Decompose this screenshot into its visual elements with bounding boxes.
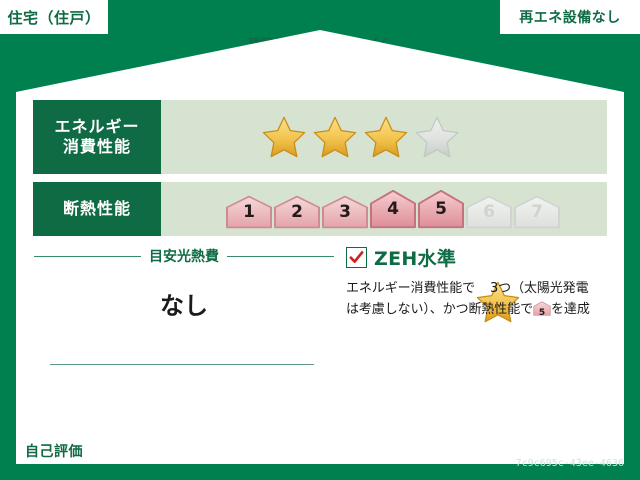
insulation-performance-body: 1234567 [161,182,607,236]
energy-performance-row: エネルギー 消費性能 [33,100,607,174]
label-footer: 自己評価 掛川市柳町第1(3棟)3号棟25004600300 評価日 2025年… [0,434,640,480]
property-address: 掛川市柳町第1(3棟)3号棟25004600300 [99,442,339,461]
insulation-grade-value: 6 [483,202,495,222]
zeh-desc-part-3: を達成 [551,302,590,317]
zeh-block: ZEH水準 エネルギー消費性能で3つ（太陽光発電 は考慮しない）、かつ断熱性能で… [346,244,614,320]
heading-rule-right [227,256,334,257]
renewable-energy-badge: 再エネ設備なし [500,0,640,34]
utility-cost-value: なし [34,286,334,321]
energy-label-line-2: 消費性能 [63,137,131,157]
inline-house-grade-icon: 5 [533,301,551,316]
star-filled-icon [261,114,307,160]
insulation-grade-4: 4 [369,189,417,229]
insulation-grade-6: 6 [465,195,513,229]
renewable-energy-badge-text: 再エネ設備なし [519,7,621,27]
lower-section: 目安光熱費 なし ZEH水準 エネルギー消費性 [16,244,624,464]
insulation-grade-value: 4 [387,199,399,219]
inline-star-icon [475,279,490,294]
insulation-performance-label-box: 断熱性能 [33,182,161,236]
insulation-grade-5: 5 [417,189,465,229]
utility-cost-heading-text: 目安光熱費 [149,246,219,266]
zeh-desc-part-1: エネルギー消費性能で [346,281,475,296]
zeh-desc-part-2: は考慮しない）、かつ断熱性能で [346,302,533,317]
energy-label-line-1: エネルギー [54,117,139,137]
energy-performance-label: 住宅（住戸） 再エネ設備なし 建築物省エネ法に基づく 省エネ性能ラベル エネルギ… [0,0,640,480]
zeh-desc-part-stars: 3つ（太陽光発電 [490,281,588,296]
checkbox-checked-icon [346,247,367,268]
insulation-grade-value: 2 [291,202,303,222]
inline-house-grade-value: 5 [539,308,545,318]
self-evaluation-badge: 自己評価 [18,439,90,463]
insulation-grade-7: 7 [513,195,561,229]
insulation-grade-value: 7 [531,202,543,222]
insulation-grade-value: 5 [435,199,447,219]
insulation-grade-value: 1 [243,202,255,222]
star-filled-icon [363,114,409,160]
insulation-label-line-1: 断熱性能 [63,199,131,219]
zeh-title: ZEH水準 [374,244,456,271]
label-card: エネルギー 消費性能 断熱性能 1234567 [16,30,624,464]
building-type-badge: 住宅（住戸） [0,0,108,34]
insulation-grade-scale: 1234567 [225,189,561,229]
insulation-grade-3: 3 [321,195,369,229]
insulation-performance-row: 断熱性能 1234567 [33,182,607,236]
heading-rule-left [34,256,141,257]
zeh-title-row: ZEH水準 [346,244,614,271]
energy-performance-label-box: エネルギー 消費性能 [33,100,161,174]
star-rating [261,114,460,160]
insulation-grade-value: 3 [339,202,351,222]
evaluation-date: 評価日 2025年6月11日 [479,438,624,458]
energy-performance-body [161,100,607,174]
zeh-description: エネルギー消費性能で3つ（太陽光発電 は考慮しない）、かつ断熱性能で 5 を達成 [346,278,614,320]
building-type-badge-text: 住宅（住戸） [7,7,100,28]
evaluation-id: 7c9c695c-43ee-4636 [516,458,624,469]
insulation-grade-2: 2 [273,195,321,229]
star-filled-icon [312,114,358,160]
utility-cost-heading: 目安光熱費 [34,246,334,266]
insulation-grade-1: 1 [225,195,273,229]
utility-cost-bottom-rule [50,364,314,365]
star-empty-icon [414,114,460,160]
label-card-inner: エネルギー 消費性能 断熱性能 1234567 [16,92,624,464]
